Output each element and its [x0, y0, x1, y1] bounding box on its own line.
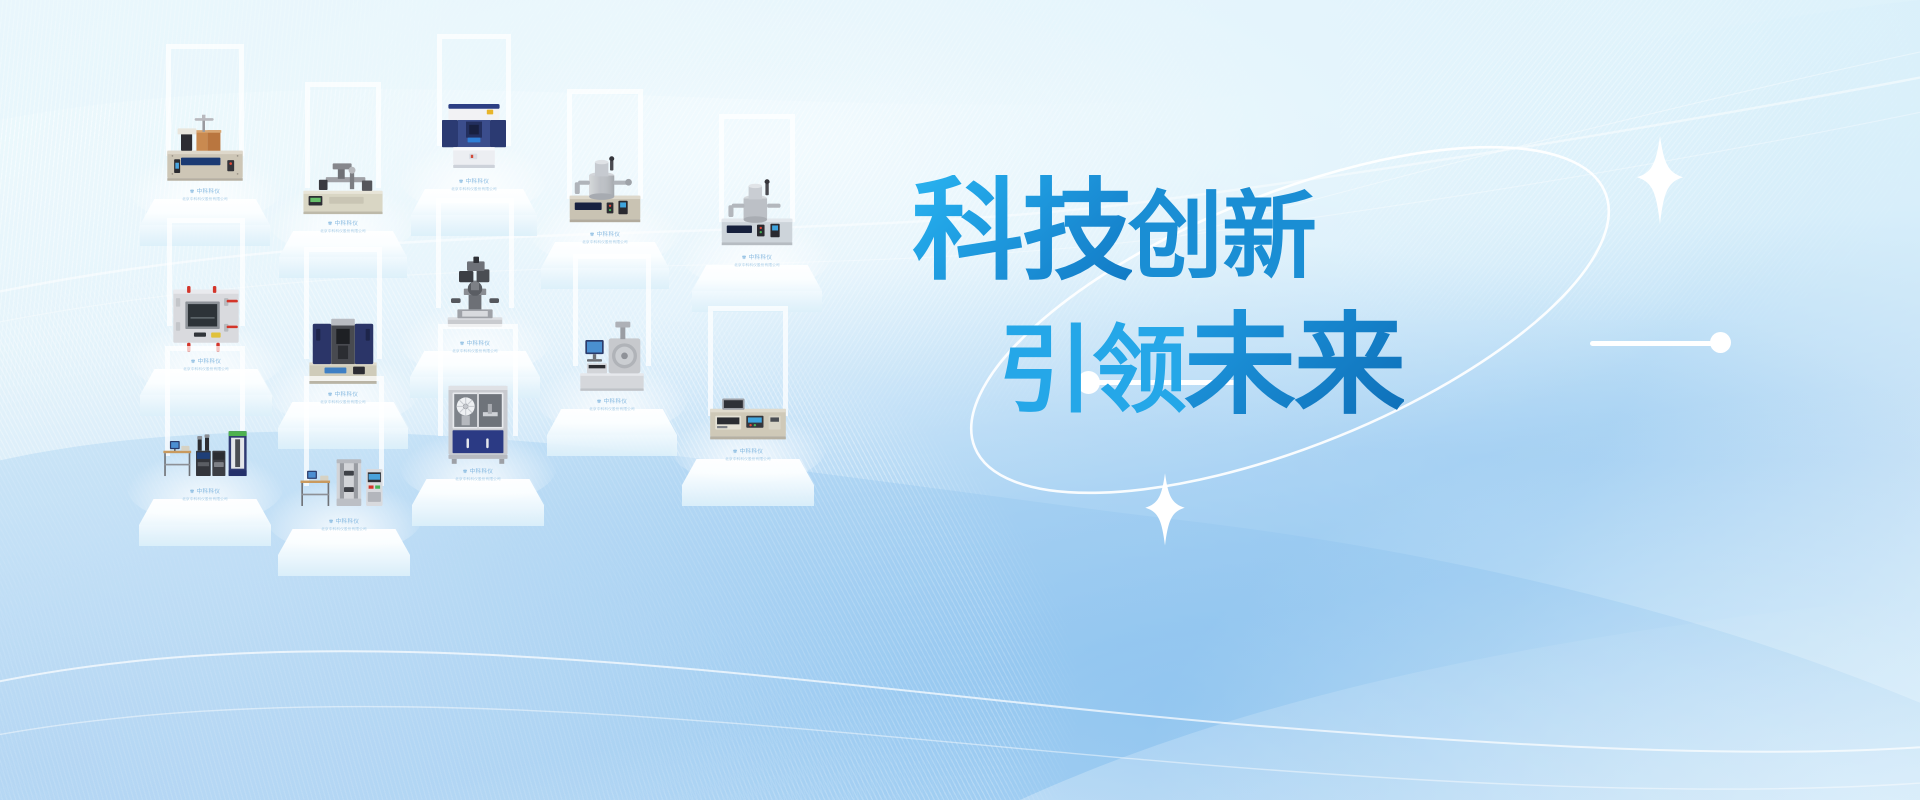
- headline-line-2-tail: 未来: [1184, 309, 1404, 421]
- pedestal-top: [682, 459, 814, 485]
- product-pedestal: [682, 459, 814, 506]
- watermark-brand: ✾ 中科科仪: [705, 448, 791, 456]
- pedestal-top: [547, 409, 677, 435]
- headline-line-1: 科技创新: [912, 175, 1460, 287]
- product-watermark: ✾ 中科科仪北京中科科仪股份有限公司: [301, 518, 387, 532]
- product-watermark: ✾ 中科科仪北京中科科仪股份有限公司: [162, 488, 248, 502]
- product-image: [437, 379, 519, 470]
- pedestal-top: [278, 529, 410, 555]
- product-watermark: ✾ 中科科仪北京中科科仪股份有限公司: [300, 220, 386, 234]
- product-watermark: ✾ 中科科仪北京中科科仪股份有限公司: [562, 231, 648, 245]
- watermark-company: 北京中科科仪股份有限公司: [562, 240, 648, 245]
- product-image: [162, 113, 248, 190]
- pedestal-top: [692, 265, 822, 291]
- product-showcase-item[interactable]: ✾ 中科科仪北京中科科仪股份有限公司: [392, 324, 564, 526]
- watermark-company: 北京中科科仪股份有限公司: [431, 187, 517, 192]
- watermark-company: 北京中科科仪股份有限公司: [162, 497, 248, 502]
- product-pedestal: [139, 499, 271, 546]
- watermark-brand: ✾ 中科科仪: [714, 254, 800, 262]
- watermark-company: 北京中科科仪股份有限公司: [705, 457, 791, 462]
- pedestal-front: [547, 435, 677, 456]
- watermark-brand: ✾ 中科科仪: [162, 188, 248, 196]
- product-watermark: ✾ 中科科仪北京中科科仪股份有限公司: [569, 398, 655, 412]
- headline-line-2: 引领未来: [998, 309, 1460, 421]
- product-image: [563, 150, 647, 233]
- pedestal-front: [278, 555, 410, 576]
- product-watermark: ✾ 中科科仪北京中科科仪股份有限公司: [714, 254, 800, 268]
- product-pedestal: [278, 529, 410, 576]
- headline-block: 科技创新 引领未来: [900, 175, 1460, 421]
- pedestal-top: [412, 479, 544, 505]
- pedestal-front: [412, 505, 544, 526]
- product-image: [434, 97, 514, 180]
- watermark-brand: ✾ 中科科仪: [569, 398, 655, 406]
- watermark-company: 北京中科科仪股份有限公司: [300, 229, 386, 234]
- product-pedestal: [547, 409, 677, 456]
- watermark-brand: ✾ 中科科仪: [301, 518, 387, 526]
- product-watermark: ✾ 中科科仪北京中科科仪股份有限公司: [435, 468, 521, 482]
- watermark-brand: ✾ 中科科仪: [300, 220, 386, 228]
- watermark-brand: ✾ 中科科仪: [435, 468, 521, 476]
- product-pedestal: [412, 479, 544, 526]
- headline-line-1-tail: 创新: [1128, 190, 1316, 285]
- watermark-company: 北京中科科仪股份有限公司: [301, 527, 387, 532]
- pedestal-front: [139, 525, 271, 546]
- pedestal-top: [139, 499, 271, 525]
- pedestal-front: [682, 485, 814, 506]
- watermark-company: 北京中科科仪股份有限公司: [435, 477, 521, 482]
- headline-line-2-lead: 引领: [998, 324, 1186, 419]
- product-showcase-item[interactable]: ✾ 中科科仪北京中科科仪股份有限公司: [672, 114, 842, 312]
- watermark-company: 北京中科科仪股份有限公司: [569, 407, 655, 412]
- watermark-company: 北京中科科仪股份有限公司: [162, 197, 248, 202]
- product-showcase-item[interactable]: ✾ 中科科仪北京中科科仪股份有限公司: [662, 306, 834, 506]
- product-pedestal: [692, 265, 822, 312]
- product-image: [160, 423, 250, 490]
- product-image: [705, 383, 791, 450]
- watermark-company: 北京中科科仪股份有限公司: [714, 263, 800, 268]
- product-image: [715, 173, 799, 256]
- watermark-brand: ✾ 中科科仪: [562, 231, 648, 239]
- product-watermark: ✾ 中科科仪北京中科科仪股份有限公司: [162, 188, 248, 202]
- watermark-brand: ✾ 中科科仪: [431, 178, 517, 186]
- product-image: [298, 451, 390, 520]
- product-image: [570, 315, 654, 400]
- product-image: [300, 151, 386, 222]
- headline-line-1-lead: 科技: [912, 175, 1132, 287]
- product-watermark: ✾ 中科科仪北京中科科仪股份有限公司: [431, 178, 517, 192]
- product-watermark: ✾ 中科科仪北京中科科仪股份有限公司: [705, 448, 791, 462]
- watermark-brand: ✾ 中科科仪: [162, 488, 248, 496]
- hero-banner: ✾ 中科科仪北京中科科仪股份有限公司 ✾ 中科科仪北京中科科仪股份有限公司 ✾ …: [0, 0, 1920, 800]
